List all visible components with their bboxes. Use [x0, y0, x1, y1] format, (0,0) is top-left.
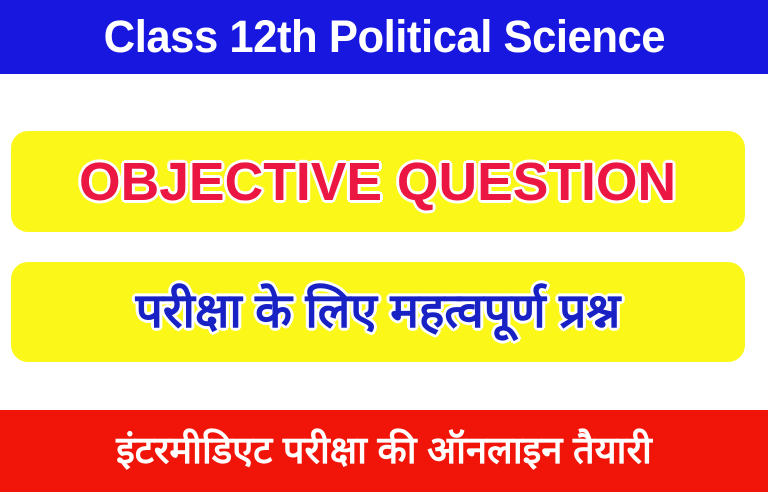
- objective-question-label: OBJECTIVE QUESTION: [79, 152, 676, 212]
- hindi-heading-label: परीक्षा के लिए महत्वपूर्ण प्रश्न: [136, 278, 621, 346]
- footer-band: इंटरमीडिएट परीक्षा की ऑनलाइन तैयारी: [0, 410, 768, 492]
- footer-label: इंटरमीडिएट परीक्षा की ऑनलाइन तैयारी: [116, 423, 652, 479]
- hindi-heading-box: परीक्षा के लिए महत्वपूर्ण प्रश्न: [11, 262, 745, 362]
- page-title: Class 12th Political Science: [103, 12, 664, 62]
- poster-canvas: Class 12th Political Science OBJECTIVE Q…: [0, 0, 768, 492]
- header-band: Class 12th Political Science: [0, 0, 768, 74]
- objective-question-box: OBJECTIVE QUESTION: [11, 131, 745, 232]
